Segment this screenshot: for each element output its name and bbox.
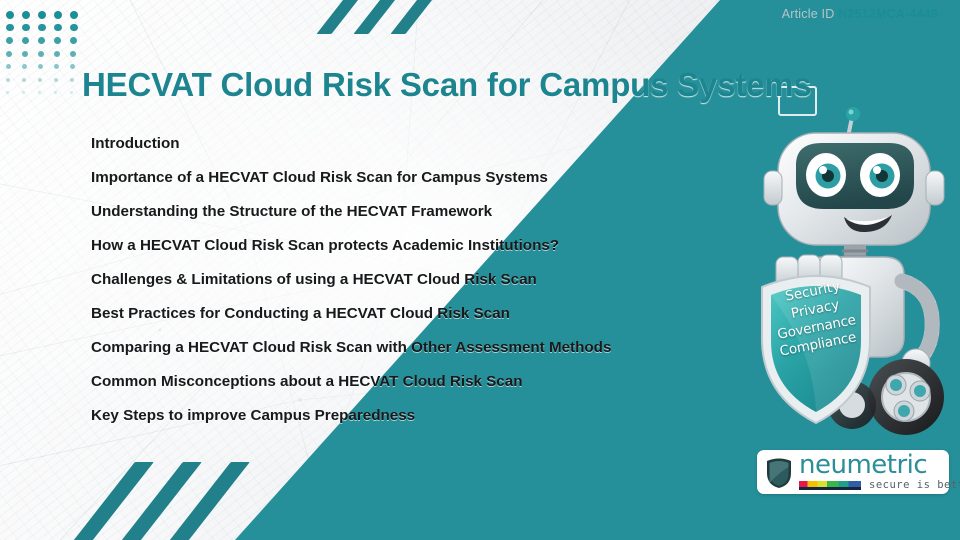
agenda-list: Introduction Importance of a HECVAT Clou… [91,136,751,442]
neumetric-logo: neumetric secure is better [757,450,949,494]
diagonal-stripes-top [330,0,460,34]
logo-tagline: secure is better [869,479,960,491]
list-item: Best Practices for Conducting a HECVAT C… [91,306,751,321]
list-item: Introduction [91,136,751,151]
logo-subline: secure is better [799,479,960,491]
robot-mascot-illustration [740,105,960,435]
list-item: Understanding the Structure of the HECVA… [91,204,751,219]
logo-text-block: neumetric secure is better [799,453,960,492]
article-id-value: N2512MCA-4449 [838,7,938,21]
article-id: Article ID N2512MCA-4449 [782,7,938,21]
shield-icon [765,456,793,489]
diagonal-stripes-bottom [100,446,300,540]
dot-grid-decoration [6,8,86,99]
list-item: Common Misconceptions about a HECVAT Clo… [91,374,751,389]
stripe [390,0,444,34]
color-bar-decoration [799,481,861,490]
list-item: Key Steps to improve Campus Preparedness [91,408,751,423]
list-item: Challenges & Limitations of using a HECV… [91,272,751,287]
list-item: Comparing a HECVAT Cloud Risk Scan with … [91,340,751,355]
article-id-label: Article ID [782,7,835,21]
list-item: Importance of a HECVAT Cloud Risk Scan f… [91,170,751,185]
list-item: How a HECVAT Cloud Risk Scan protects Ac… [91,238,751,253]
slide-canvas: Article ID N2512MCA-4449 HECVAT Cloud Ri… [0,0,960,540]
logo-wordmark: neumetric [799,453,960,478]
page-title: HECVAT Cloud Risk Scan for Campus System… [82,66,902,104]
